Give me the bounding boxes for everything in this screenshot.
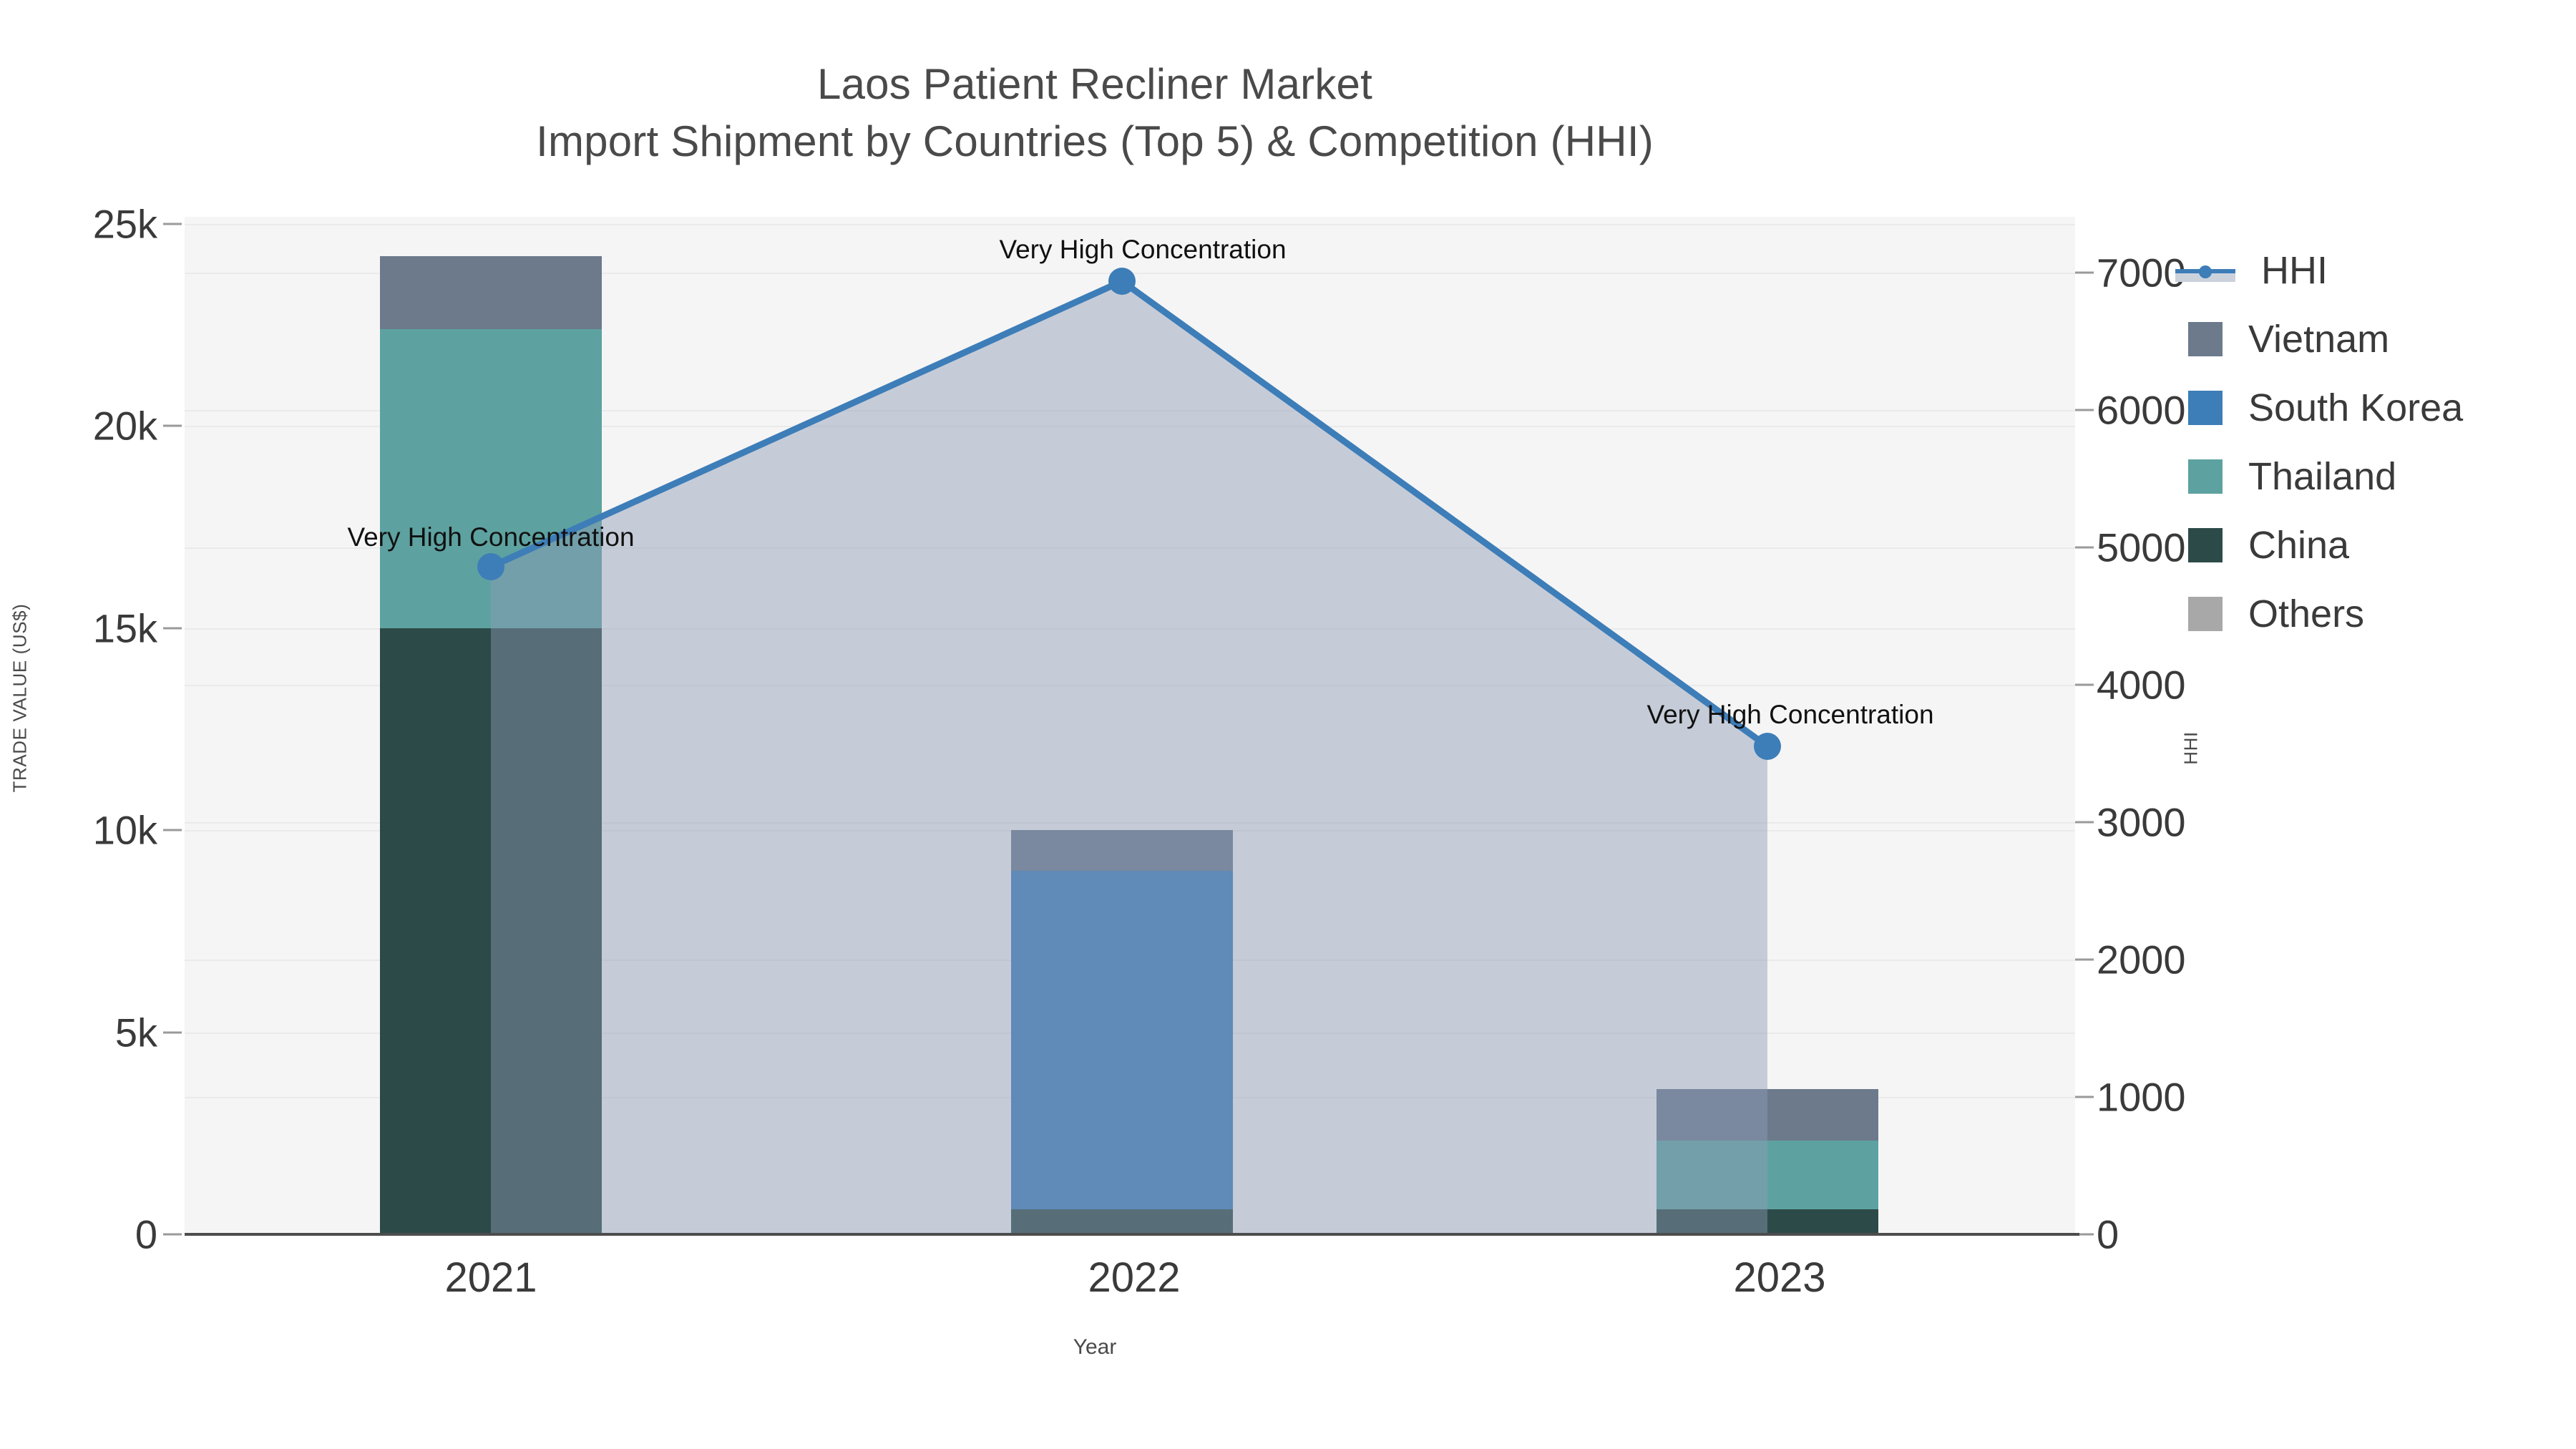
y-tick-mark-left-0	[163, 1234, 182, 1236]
y-tick-left-10k: 10k	[14, 807, 157, 854]
legend: HHI Vietnam South Korea Thailand China O…	[2175, 236, 2463, 648]
y-tick-mark-right-4000	[2075, 684, 2094, 686]
y-tick-mark-left-5k	[163, 1032, 182, 1034]
y-tick-mark-left-20k	[163, 425, 182, 427]
chart-title-line-1: Laos Patient Recliner Market	[0, 56, 2190, 113]
x-axis-line	[185, 1233, 2079, 1236]
legend-item-thailand[interactable]: Thailand	[2175, 442, 2463, 511]
y-tick-mark-right-5000	[2075, 547, 2094, 549]
y-tick-mark-right-2000	[2075, 959, 2094, 961]
chart-title-line-2: Import Shipment by Countries (Top 5) & C…	[0, 113, 2190, 170]
y-tick-right-4000: 4000	[2097, 662, 2333, 708]
legend-line-icon	[2175, 253, 2235, 288]
y-tick-mark-right-6000	[2075, 409, 2094, 411]
x-tick-2021: 2021	[341, 1254, 641, 1302]
y-tick-mark-right-7000	[2075, 272, 2094, 274]
annotation-2021: Very High Concentration	[347, 522, 634, 552]
legend-label-others: Others	[2248, 592, 2364, 636]
y-tick-mark-left-25k	[163, 223, 182, 225]
legend-swatch-icon-south-korea	[2188, 391, 2223, 425]
y-tick-right-1000: 1000	[2097, 1074, 2333, 1121]
hhi-point-2023[interactable]	[1754, 733, 1781, 760]
annotation-2022: Very High Concentration	[999, 235, 1286, 265]
y-tick-left-0: 0	[14, 1211, 157, 1258]
legend-item-hhi[interactable]: HHI	[2175, 236, 2463, 305]
y-tick-left-20k: 20k	[14, 403, 157, 449]
x-tick-2023: 2023	[1629, 1254, 1930, 1302]
legend-label-vietnam: Vietnam	[2248, 317, 2389, 361]
legend-swatch-icon-others	[2188, 597, 2223, 631]
y-tick-mark-left-15k	[163, 628, 182, 630]
legend-item-south-korea[interactable]: South Korea	[2175, 374, 2463, 442]
chart-title: Laos Patient Recliner Market Import Ship…	[0, 56, 2190, 170]
legend-label-thailand: Thailand	[2248, 454, 2396, 499]
legend-label-china: China	[2248, 523, 2349, 567]
legend-swatch-icon-vietnam	[2188, 322, 2223, 356]
y-tick-mark-right-3000	[2075, 821, 2094, 824]
y-tick-left-15k: 15k	[14, 605, 157, 652]
legend-label-hhi: HHI	[2261, 248, 2328, 293]
legend-swatch-icon-china	[2188, 528, 2223, 562]
y-tick-left-5k: 5k	[14, 1010, 157, 1056]
y-tick-left-25k: 25k	[14, 201, 157, 248]
hhi-point-2021[interactable]	[477, 553, 504, 580]
legend-swatch-icon-thailand	[2188, 459, 2223, 494]
hhi-point-2022[interactable]	[1108, 268, 1136, 295]
legend-label-south-korea: South Korea	[2248, 386, 2463, 430]
legend-item-vietnam[interactable]: Vietnam	[2175, 305, 2463, 374]
y-tick-right-3000: 3000	[2097, 799, 2333, 846]
annotation-2023: Very High Concentration	[1646, 700, 1933, 730]
legend-item-china[interactable]: China	[2175, 511, 2463, 580]
x-tick-2022: 2022	[984, 1254, 1284, 1302]
hhi-area-fill	[491, 281, 1767, 1234]
y-tick-right-0: 0	[2097, 1211, 2333, 1258]
y-tick-mark-left-10k	[163, 829, 182, 831]
y-tick-mark-right-1000	[2075, 1096, 2094, 1098]
y-tick-right-2000: 2000	[2097, 937, 2333, 983]
chart-root: Laos Patient Recliner Market Import Ship…	[0, 0, 2576, 1449]
legend-item-others[interactable]: Others	[2175, 580, 2463, 648]
x-axis-label: Year	[0, 1335, 2190, 1360]
